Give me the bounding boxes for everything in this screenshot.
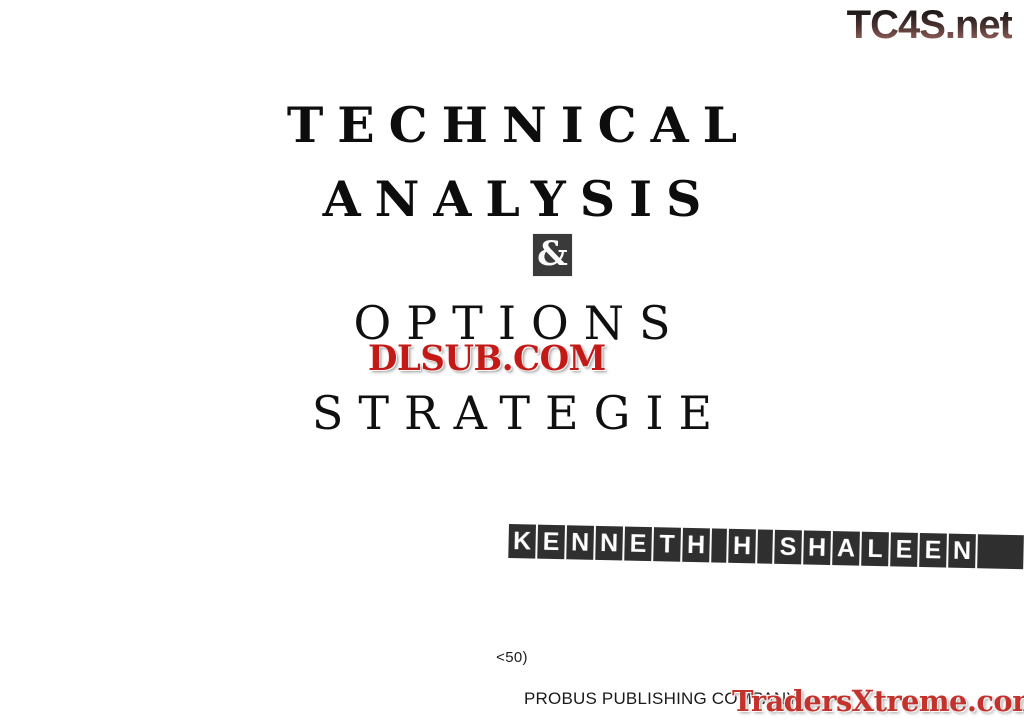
book-cover-page: TECHNICAL ANALYSIS & OPTIONS STRATEGIE K… bbox=[0, 0, 1024, 724]
author-tile-letter: E bbox=[624, 527, 652, 562]
author-tile-letter: N bbox=[948, 534, 976, 569]
cover-subtitle-line-2: STRATEGIE bbox=[0, 387, 1024, 439]
author-tile-letter: H bbox=[803, 530, 831, 565]
cover-title-line-2: ANALYSIS bbox=[0, 172, 1024, 226]
page-number: <50) bbox=[0, 649, 1024, 666]
author-tile-letter: H bbox=[728, 529, 756, 564]
author-tile-letter: N bbox=[566, 525, 594, 560]
dlsub-watermark: DLSUB.COM bbox=[368, 340, 606, 378]
author-tile-letter: T bbox=[653, 527, 681, 562]
author-tile-letter: A bbox=[832, 531, 860, 566]
author-tile-letter: S bbox=[774, 530, 802, 565]
author-tile-letter: L bbox=[861, 532, 889, 567]
ampersand-glyph: & bbox=[537, 237, 568, 271]
author-name-banner: KENNETHHSHALEEN bbox=[508, 524, 1024, 569]
ampersand-badge: & bbox=[533, 234, 572, 276]
author-tile-letter: E bbox=[537, 525, 565, 560]
author-tile-blank bbox=[977, 534, 1024, 569]
author-tile-letter: K bbox=[508, 524, 536, 559]
author-tile-space bbox=[711, 528, 727, 562]
author-tile-space bbox=[757, 529, 773, 563]
author-tile-letter: N bbox=[595, 526, 623, 561]
tradersxtreme-watermark: TradersXtreme.com bbox=[732, 685, 1024, 717]
tc4s-watermark: TC4S.net bbox=[847, 2, 1012, 48]
author-tile-letter: E bbox=[890, 532, 918, 567]
cover-title-line-1: TECHNICAL bbox=[0, 98, 1024, 152]
author-tile-letter: E bbox=[919, 533, 947, 568]
author-tile-letter: H bbox=[682, 528, 710, 563]
